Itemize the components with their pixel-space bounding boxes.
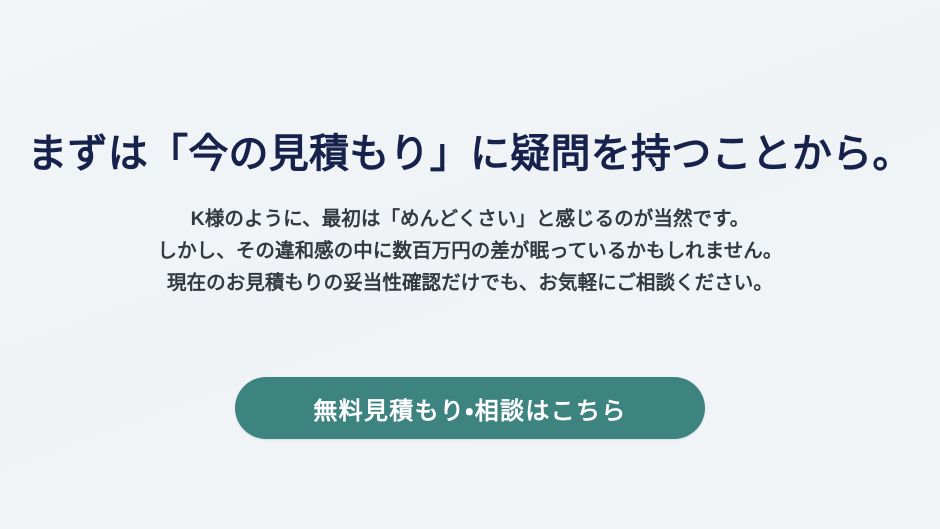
body-copy: K様のように、最初は「めんどくさい」と感じるのが当然です。 しかし、その違和感の…	[0, 203, 940, 299]
free-quote-consultation-button[interactable]: 無料見積もり・相談はこちら	[235, 377, 705, 439]
body-copy-line-1: K様のように、最初は「めんどくさい」と感じるのが当然です。	[0, 203, 940, 235]
body-copy-line-2: しかし、その違和感の中に数百万円の差が眠っているかもしれません。	[0, 235, 940, 267]
page-title: まずは「今の見積もり」に疑問を持つことから。	[0, 131, 940, 178]
cta-slide: まずは「今の見積もり」に疑問を持つことから。 K様のように、最初は「めんどくさい…	[0, 0, 940, 529]
body-copy-line-3: 現在のお見積もりの妥当性確認だけでも、お気軽にご相談ください。	[0, 267, 940, 299]
cta-button-container: 無料見積もり・相談はこちら	[0, 377, 940, 439]
